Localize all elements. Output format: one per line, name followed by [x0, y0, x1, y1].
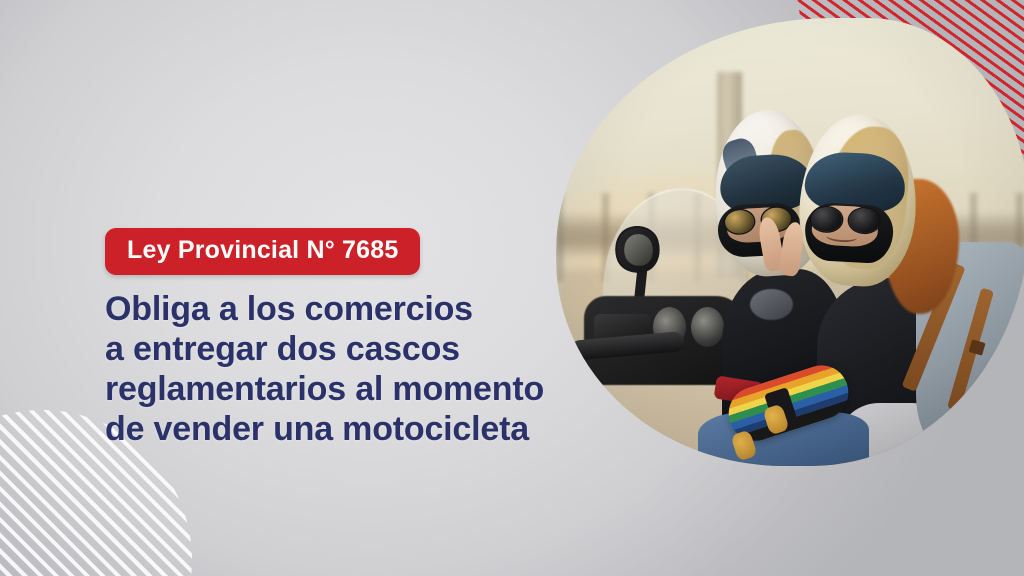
law-badge: Ley Provincial N° 7685	[105, 228, 420, 275]
rider-photo	[556, 18, 1024, 466]
poster-canvas: Ley Provincial N° 7685 Obliga a los come…	[0, 0, 1024, 576]
photo-vignette	[556, 18, 1024, 466]
headline-line-2: a entregar dos cascos	[105, 329, 625, 369]
headline-line-1: Obliga a los comercios	[105, 289, 625, 329]
poster-text-block: Ley Provincial N° 7685 Obliga a los come…	[105, 228, 625, 449]
headline-line-4: de vender una motocicleta	[105, 409, 625, 449]
headline-line-3: reglamentarios al momento	[105, 369, 625, 409]
rider-photo-scene	[556, 18, 1024, 466]
poster-headline: Obliga a los comercios a entregar dos ca…	[105, 289, 625, 449]
